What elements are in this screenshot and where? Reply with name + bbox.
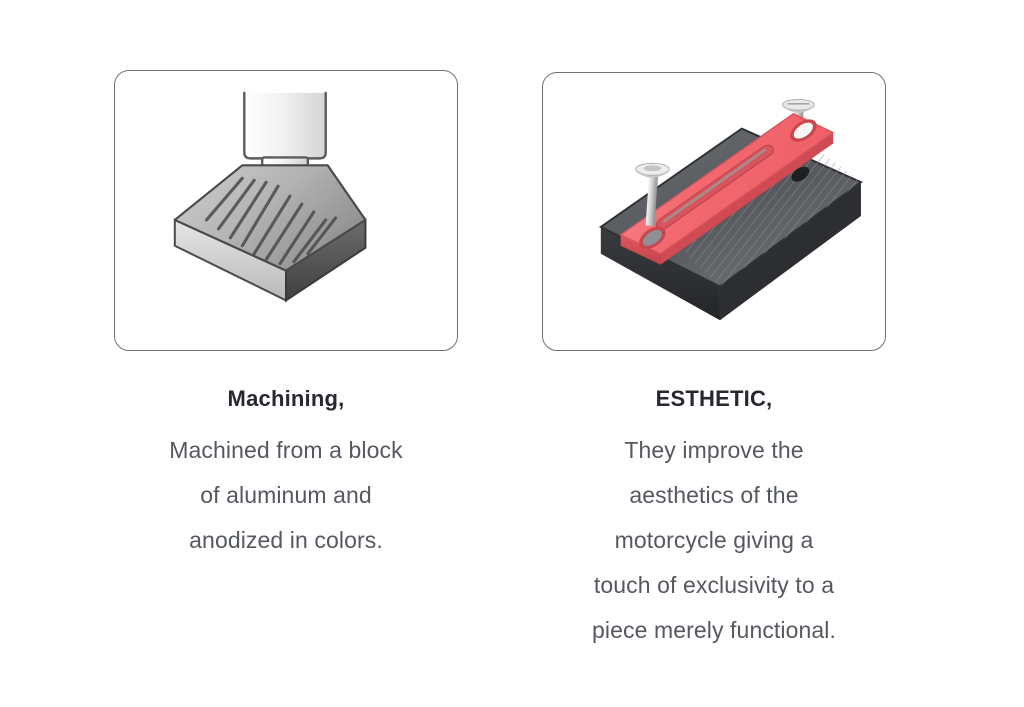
spindle-holder-shape — [244, 93, 325, 159]
body-line: motorcycle giving a — [524, 518, 904, 563]
body-line: Machined from a block — [96, 428, 476, 473]
anodized-plate-with-screws-icon — [543, 73, 885, 350]
body-line: They improve the — [524, 428, 904, 473]
screw-front-recess — [644, 165, 662, 171]
icon-card-machining — [114, 70, 458, 351]
body-line: piece merely functional. — [524, 608, 904, 653]
feature-body-machining: Machined from a block of aluminum and an… — [96, 428, 476, 563]
feature-title-machining: Machining, — [96, 386, 476, 412]
cnc-milling-machine-icon — [115, 71, 457, 350]
workpiece-shape — [175, 165, 366, 300]
icon-card-esthetic — [542, 72, 886, 351]
body-line: touch of exclusivity to a — [524, 563, 904, 608]
body-line: of aluminum and — [96, 473, 476, 518]
body-line: aesthetics of the — [524, 473, 904, 518]
feature-highlights-page: Machining, Machined from a block of alum… — [0, 0, 1024, 707]
body-line: anodized in colors. — [96, 518, 476, 563]
feature-columns: Machining, Machined from a block of alum… — [0, 0, 1024, 707]
feature-body-esthetic: They improve the aesthetics of the motor… — [524, 428, 904, 653]
feature-title-esthetic: ESTHETIC, — [524, 386, 904, 412]
